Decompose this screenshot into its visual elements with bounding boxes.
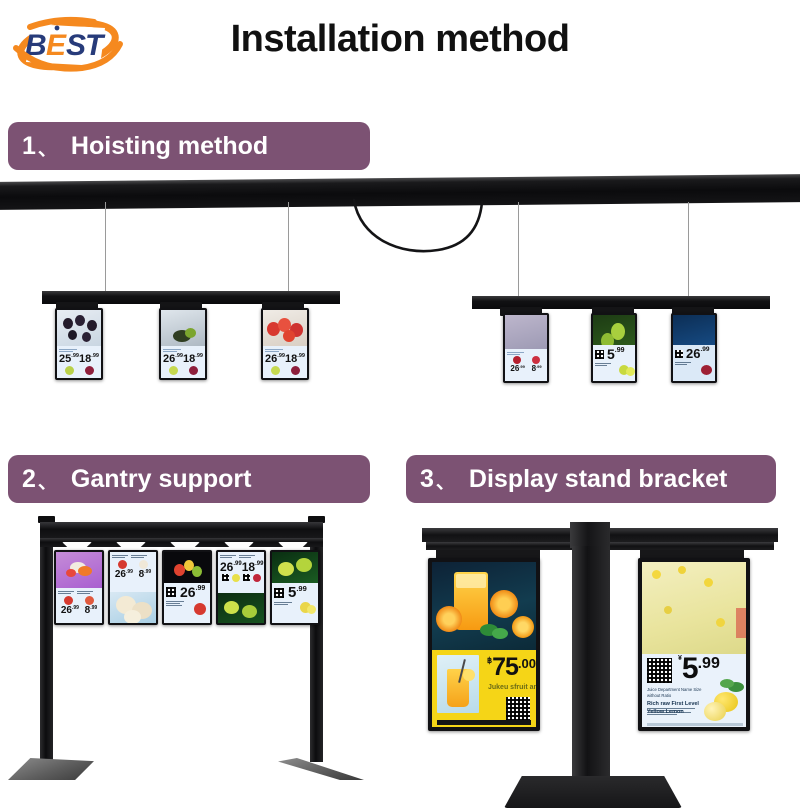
suspension-wire: [688, 202, 689, 298]
price-decimal: .99: [700, 347, 709, 354]
qr-code: [595, 350, 604, 359]
price-integer: 26: [686, 347, 700, 360]
price-decimal: .99: [90, 606, 97, 611]
price-decimal: .99: [144, 570, 151, 575]
price-decimal: .00: [518, 656, 536, 671]
gantry-display-panel[interactable]: 26.99: [162, 550, 212, 625]
price-integer: 26: [163, 354, 175, 365]
lemon-graphic: [704, 702, 726, 721]
qr-code: [506, 697, 530, 721]
price-decimal: .99: [72, 606, 79, 611]
section-3-separator: 、: [436, 467, 455, 494]
section-1-number: 1: [22, 132, 36, 161]
hanging-display-panel[interactable]: 5.99: [591, 313, 637, 383]
price-integer: 5: [607, 347, 615, 361]
price-integer: 26: [510, 365, 519, 373]
page-title: Installation method: [0, 18, 800, 61]
gantry-display-panel[interactable]: 26.99 8.99: [108, 550, 158, 625]
section-1-label: Hoisting method: [71, 132, 268, 161]
gantry-display-panel[interactable]: 5.99: [270, 550, 320, 625]
price-integer: 18: [79, 354, 91, 365]
page-header: B E S T Installation method: [0, 0, 800, 105]
panel-hanger: [278, 542, 308, 550]
display-stand-bracket-illustration: ฿ 75 .00 Jukeu sfruit an: [400, 508, 800, 800]
price-decimal: .99: [255, 561, 263, 567]
price-integer: 75: [492, 656, 518, 679]
price-integer: 26: [180, 585, 196, 599]
gantry-support-illustration: 26.99 8.99: [0, 508, 400, 800]
panel-hanger: [62, 542, 92, 550]
stand-display-panel-right[interactable]: ¥ 5 .99 Juice Department Name Size witho…: [638, 558, 750, 731]
hoisting-method-illustration: 25.99 18.99: [0, 178, 800, 393]
section-2-number: 2: [22, 465, 36, 494]
section-3-number: 3: [420, 465, 434, 494]
section-3-label: Display stand bracket: [469, 465, 727, 494]
price-integer: 5: [288, 585, 296, 600]
gantry-top-beam: [40, 522, 323, 538]
panel-hanger: [170, 542, 200, 550]
promo-text: Jukeu sfruit an: [488, 684, 536, 691]
price-integer: 25: [59, 354, 71, 365]
installation-method-page: B E S T Installation method 1 、 Hoisting…: [0, 0, 800, 800]
qr-code: [243, 574, 250, 581]
desc-line-1: Juice Department Name Size without Ratio: [647, 687, 711, 700]
power-cable: [330, 198, 510, 308]
suspension-wire: [518, 202, 519, 298]
price-integer: 18: [285, 354, 297, 365]
price-decimal: .99: [296, 585, 306, 593]
section-3-badge: 3 、 Display stand bracket: [406, 455, 776, 503]
section-2-label: Gantry support: [71, 465, 252, 494]
hanging-display-panel[interactable]: 26.99 18.99: [159, 308, 207, 380]
price-integer: 18: [183, 354, 195, 365]
price-decimal: .99: [91, 354, 99, 360]
panel-hanger: [116, 542, 146, 550]
stand-base-plate: [504, 776, 682, 808]
price-decimal: .99: [297, 354, 305, 360]
hanging-display-panel[interactable]: 26.99 8.99: [503, 313, 549, 383]
hanging-display-panel[interactable]: 26.99: [671, 313, 717, 383]
gantry-post-left: [40, 520, 53, 762]
price-integer: 26: [115, 570, 126, 580]
price-decimal: .99: [536, 365, 542, 369]
section-1-badge: 1 、 Hoisting method: [8, 122, 370, 170]
hanging-display-panel[interactable]: 26.99 18.99: [261, 308, 309, 380]
price-decimal: .99: [195, 354, 203, 360]
qr-code: [647, 658, 672, 683]
spec-lines: [647, 707, 699, 716]
qr-code: [675, 350, 683, 358]
panel-hanger: [224, 542, 254, 550]
hanging-display-panel[interactable]: 25.99 18.99: [55, 308, 103, 380]
gantry-foot-left: [8, 758, 94, 780]
price-decimal: .99: [277, 354, 285, 360]
price-decimal: .99: [196, 585, 206, 592]
price-integer: 26: [265, 354, 277, 365]
price-decimal: .99: [71, 354, 79, 360]
stand-column: [572, 546, 610, 804]
section-2-badge: 2 、 Gantry support: [8, 455, 370, 503]
leaf-graphic: [720, 679, 734, 688]
price-integer: 18: [242, 561, 255, 573]
stand-display-panel-left[interactable]: ฿ 75 .00 Jukeu sfruit an: [428, 558, 540, 731]
qr-code: [166, 587, 176, 597]
price-decimal: .99: [126, 570, 133, 575]
price-integer: 26: [220, 561, 233, 573]
price-decimal: .99: [698, 655, 720, 673]
qr-code: [222, 574, 229, 581]
price-decimal: .99: [615, 347, 625, 354]
suspension-wire: [105, 202, 106, 298]
qr-code: [274, 588, 284, 598]
price-integer: 26: [61, 606, 72, 616]
price-decimal: .99: [175, 354, 183, 360]
price-decimal: .99: [233, 561, 241, 567]
gantry-display-panel[interactable]: 26.99 18.99: [216, 550, 266, 625]
suspension-wire: [288, 202, 289, 298]
price-integer: 5: [682, 655, 698, 682]
section-1-separator: 、: [38, 134, 57, 161]
section-2-separator: 、: [38, 467, 57, 494]
stand-center-block: [570, 522, 610, 548]
gantry-display-panel[interactable]: 26.99 8.99: [54, 550, 104, 625]
price-decimal: .99: [519, 365, 525, 369]
